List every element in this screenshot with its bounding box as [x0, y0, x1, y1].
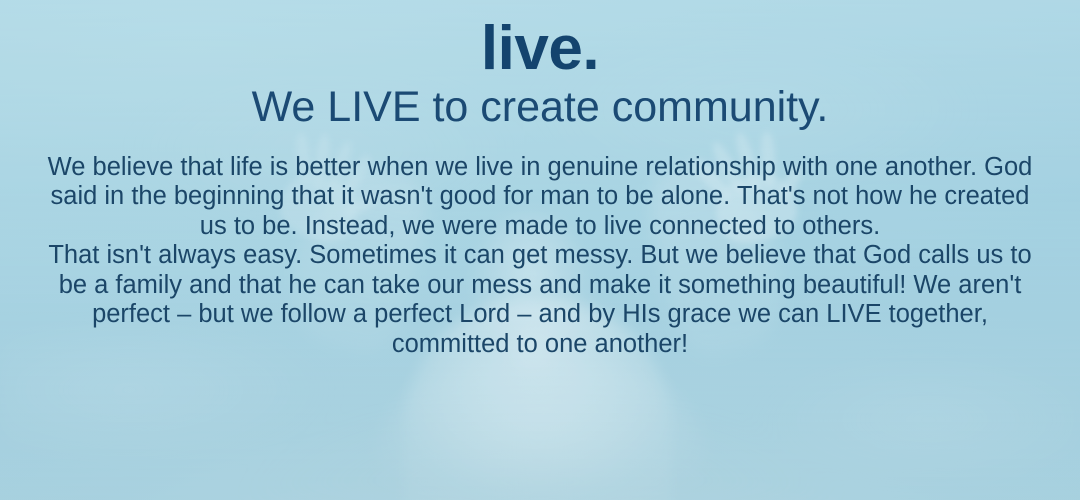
body-paragraph-2: That isn't always easy. Sometimes it can…: [46, 241, 1034, 359]
slide-content: live. We LIVE to create community. We be…: [0, 0, 1080, 500]
body-paragraph-1: We believe that life is better when we l…: [46, 153, 1034, 242]
page-title: live.: [0, 0, 1080, 80]
page-subtitle: We LIVE to create community.: [0, 80, 1080, 130]
body-copy: We believe that life is better when we l…: [0, 131, 1080, 360]
slide-canvas: live. We LIVE to create community. We be…: [0, 0, 1080, 500]
